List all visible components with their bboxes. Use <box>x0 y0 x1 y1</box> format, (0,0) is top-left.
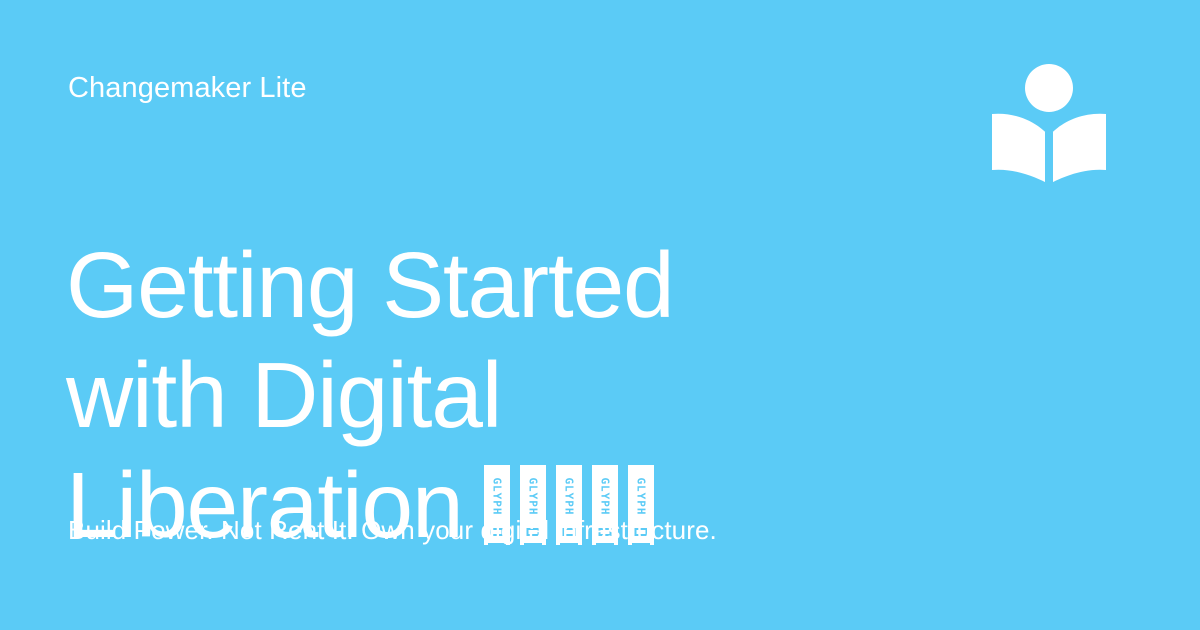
page-title: Getting Started with Digital Liberation … <box>66 230 946 560</box>
open-book-reader-icon <box>990 62 1108 184</box>
missing-glyph-label: GLYPH <box>600 478 611 516</box>
subtitle: Build Power. Not Rent It. Own your digit… <box>68 513 717 547</box>
headline-line-1: Getting Started <box>66 230 946 340</box>
missing-glyph-label: GLYPH <box>564 478 575 516</box>
missing-glyph-label: GLYPH <box>492 478 503 516</box>
headline-line-2: with Digital <box>66 340 946 450</box>
missing-glyph-label: GLYPH <box>636 478 647 516</box>
brand-label: Changemaker Lite <box>68 68 307 108</box>
og-card: Changemaker Lite Getting Started with Di… <box>0 0 1200 630</box>
missing-glyph-label: GLYPH <box>528 478 539 516</box>
